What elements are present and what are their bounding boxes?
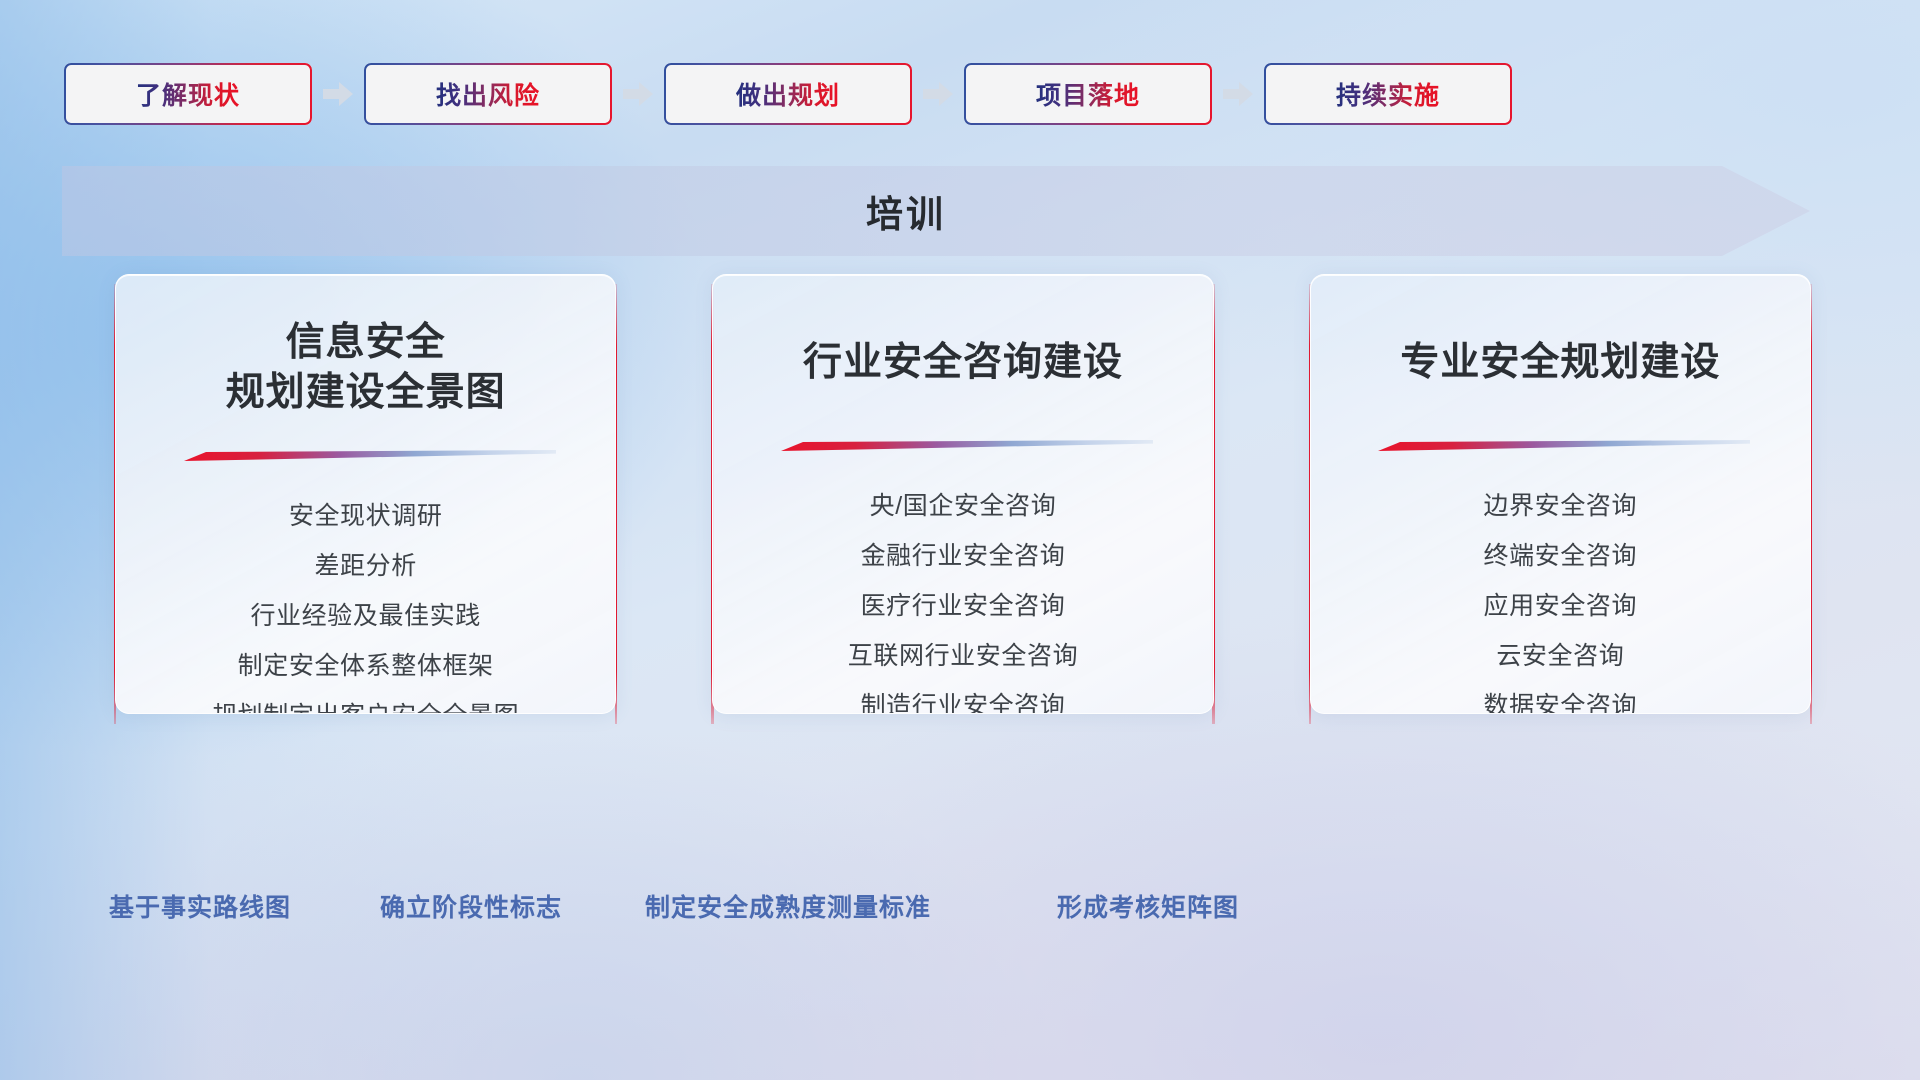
caption-4: 形成考核矩阵图: [1057, 888, 1239, 924]
card-list-item: 央/国企安全咨询: [870, 486, 1057, 527]
chevron-right-arrow-icon: [1223, 81, 1253, 107]
card-1[interactable]: 信息安全 规划建设全景图安全现状调研差距分析行业经验及最佳实践制定安全体系整体框…: [115, 274, 616, 714]
cards-row: 信息安全 规划建设全景图安全现状调研差距分析行业经验及最佳实践制定安全体系整体框…: [93, 274, 1833, 714]
card-item-list: 边界安全咨询终端安全咨询应用安全咨询云安全咨询数据安全咨询: [1311, 486, 1810, 714]
card-list-item: 数据安全咨询: [1484, 686, 1638, 714]
step-label: 了解现状: [136, 76, 240, 112]
step-arrow-4: [1212, 81, 1264, 107]
chevron-right-arrow-icon: [323, 81, 353, 107]
card-accent-line: [116, 450, 615, 462]
card-list-item: 行业经验及最佳实践: [250, 596, 480, 637]
gradient-underline-icon: [773, 440, 1153, 452]
card-list-item: 安全现状调研: [289, 496, 443, 537]
card-item-list: 安全现状调研差距分析行业经验及最佳实践制定安全体系整体框架规划制定出客户安全全景…: [116, 496, 615, 714]
card-title: 信息安全 规划建设全景图: [226, 318, 506, 418]
caption-2: 确立阶段性标志: [380, 888, 562, 924]
card-list-item: 制定安全体系整体框架: [238, 646, 494, 687]
card-list-item: 云安全咨询: [1496, 636, 1624, 677]
gradient-underline-icon: [176, 450, 556, 462]
step-arrow-1: [312, 81, 364, 107]
card-1-wrapper: 信息安全 规划建设全景图安全现状调研差距分析行业经验及最佳实践制定安全体系整体框…: [93, 274, 638, 714]
step-box-4[interactable]: 项目落地: [964, 63, 1212, 125]
step-box-3[interactable]: 做出规划: [664, 63, 912, 125]
card-item-list: 央/国企安全咨询金融行业安全咨询医疗行业安全咨询互联网行业安全咨询制造行业安全咨…: [713, 486, 1212, 714]
card-3-wrapper: 专业安全规划建设边界安全咨询终端安全咨询应用安全咨询云安全咨询数据安全咨询: [1288, 274, 1833, 714]
step-box-1[interactable]: 了解现状: [64, 63, 312, 125]
card-list-item: 终端安全咨询: [1484, 536, 1638, 577]
step-arrow-3: [912, 81, 964, 107]
step-label: 持续实施: [1336, 76, 1440, 112]
card-title: 行业安全咨询建设: [803, 338, 1123, 388]
step-arrow-2: [612, 81, 664, 107]
card-list-item: 金融行业安全咨询: [861, 536, 1066, 577]
banner-label: 培训: [62, 166, 1750, 256]
card-list-item: 边界安全咨询: [1484, 486, 1638, 527]
card-list-item: 医疗行业安全咨询: [861, 586, 1066, 627]
card-accent-line: [713, 440, 1212, 452]
caption-1: 基于事实路线图: [109, 888, 291, 924]
card-list-item: 规划制定出客户安全全景图: [212, 696, 519, 714]
step-label: 找出风险: [436, 76, 540, 112]
step-box-5[interactable]: 持续实施: [1264, 63, 1512, 125]
step-box-2[interactable]: 找出风险: [364, 63, 612, 125]
card-list-item: 制造行业安全咨询: [861, 686, 1066, 714]
card-accent-line: [1311, 440, 1810, 452]
card-title: 专业安全规划建设: [1400, 338, 1720, 388]
caption-3: 制定安全成熟度测量标准: [645, 888, 931, 924]
card-list-item: 互联网行业安全咨询: [848, 636, 1078, 677]
card-2-wrapper: 行业安全咨询建设央/国企安全咨询金融行业安全咨询医疗行业安全咨询互联网行业安全咨…: [690, 274, 1235, 714]
card-list-item: 差距分析: [314, 546, 416, 587]
chevron-right-arrow-icon: [623, 81, 653, 107]
card-3[interactable]: 专业安全规划建设边界安全咨询终端安全咨询应用安全咨询云安全咨询数据安全咨询: [1310, 274, 1811, 714]
process-steps-row: 了解现状找出风险做出规划项目落地持续实施: [64, 63, 1856, 125]
step-label: 做出规划: [736, 76, 840, 112]
card-list-item: 应用安全咨询: [1484, 586, 1638, 627]
chevron-right-arrow-icon: [923, 81, 953, 107]
captions-row: 基于事实路线图确立阶段性标志制定安全成熟度测量标准形成考核矩阵图: [0, 888, 1920, 940]
card-2[interactable]: 行业安全咨询建设央/国企安全咨询金融行业安全咨询医疗行业安全咨询互联网行业安全咨…: [712, 274, 1213, 714]
training-banner: 培训: [62, 166, 1810, 256]
gradient-underline-icon: [1370, 440, 1750, 452]
step-label: 项目落地: [1036, 76, 1140, 112]
